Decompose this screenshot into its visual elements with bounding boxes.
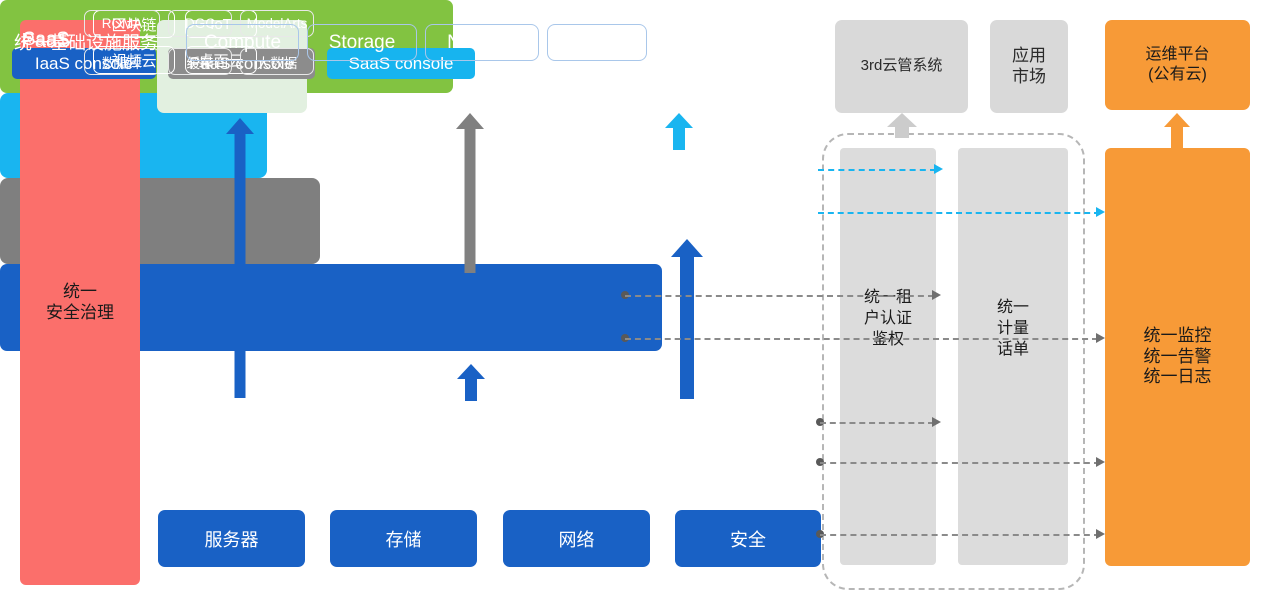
hardware-box-storage[interactable]: 存储 — [330, 510, 477, 567]
arrow-up-iaas-to-saas-icon — [671, 239, 703, 399]
ops-platform-box[interactable]: 运维平台(公有云) — [1105, 20, 1250, 110]
arrow-head-iaas-to-auth-icon — [932, 417, 941, 427]
unified-infrastructure-label: 统一基础设施服务 — [14, 29, 158, 55]
arrow-head-paas-to-auth-icon — [932, 290, 941, 300]
link-iaas-to-ops — [820, 462, 1100, 464]
security-governance-panel[interactable]: 统一安全治理 — [20, 20, 140, 585]
link-saas-to-ops — [818, 212, 1100, 214]
ops-monitoring-label: 统一监控统一告警统一日志 — [1144, 326, 1212, 388]
architecture-diagram: 统一安全治理 API网关 自助服务Console框架 IaaS console … — [0, 0, 1265, 605]
arrow-up-to-third-party-icon — [887, 113, 917, 137]
link-saas-to-auth — [818, 169, 936, 171]
arrow-up-to-api-gateway-icon — [226, 118, 254, 398]
iaas-service-compute[interactable]: Compute — [186, 24, 299, 61]
iaas-service-network[interactable]: Network — [425, 24, 539, 61]
link-paas-to-ops — [625, 338, 1098, 340]
third-party-cloud-mgmt-box[interactable]: 3rd云管系统 — [835, 20, 968, 113]
link-hardware-to-ops — [820, 534, 1100, 536]
unified-tenant-auth-column[interactable]: 统一租户认证鉴权 — [840, 148, 936, 565]
arrow-up-to-paas-console-icon — [456, 113, 484, 273]
hardware-box-security[interactable]: 安全 — [675, 510, 821, 567]
third-party-label: 3rd云管系统 — [861, 57, 943, 75]
link-paas-to-auth — [625, 295, 934, 297]
app-market-box[interactable]: 应用市场 — [990, 20, 1068, 113]
hardware-box-server[interactable]: 服务器 — [158, 510, 305, 567]
unified-metering-billing-label: 统一计量话单 — [997, 298, 1029, 360]
unified-tenant-auth-label: 统一租户认证鉴权 — [864, 288, 912, 350]
arrow-up-to-ops-platform-icon — [1163, 113, 1191, 149]
arrow-up-to-saas-console-icon — [665, 113, 693, 149]
arrow-head-saas-to-auth-icon — [934, 164, 943, 174]
arrow-head-paas-to-ops-icon — [1096, 333, 1105, 343]
ops-platform-label: 运维平台(公有云) — [1145, 45, 1209, 84]
arrow-up-iaas-to-paas-icon — [457, 364, 485, 400]
arrow-head-hardware-to-ops-icon — [1096, 529, 1105, 539]
unified-metering-billing-column[interactable]: 统一计量话单 — [958, 148, 1068, 565]
link-iaas-to-auth — [820, 422, 934, 424]
arrow-head-saas-to-ops-icon — [1096, 207, 1105, 217]
app-market-label: 应用市场 — [1012, 46, 1046, 87]
ops-monitoring-panel[interactable]: 统一监控统一告警统一日志 — [1105, 148, 1250, 566]
iaas-service-storage[interactable]: Storage — [307, 24, 417, 61]
hardware-box-network[interactable]: 网络 — [503, 510, 650, 567]
iaas-service-cce[interactable]: CCE — [547, 24, 647, 61]
security-governance-label: 统一安全治理 — [46, 282, 114, 323]
arrow-head-iaas-to-ops-icon — [1096, 457, 1105, 467]
